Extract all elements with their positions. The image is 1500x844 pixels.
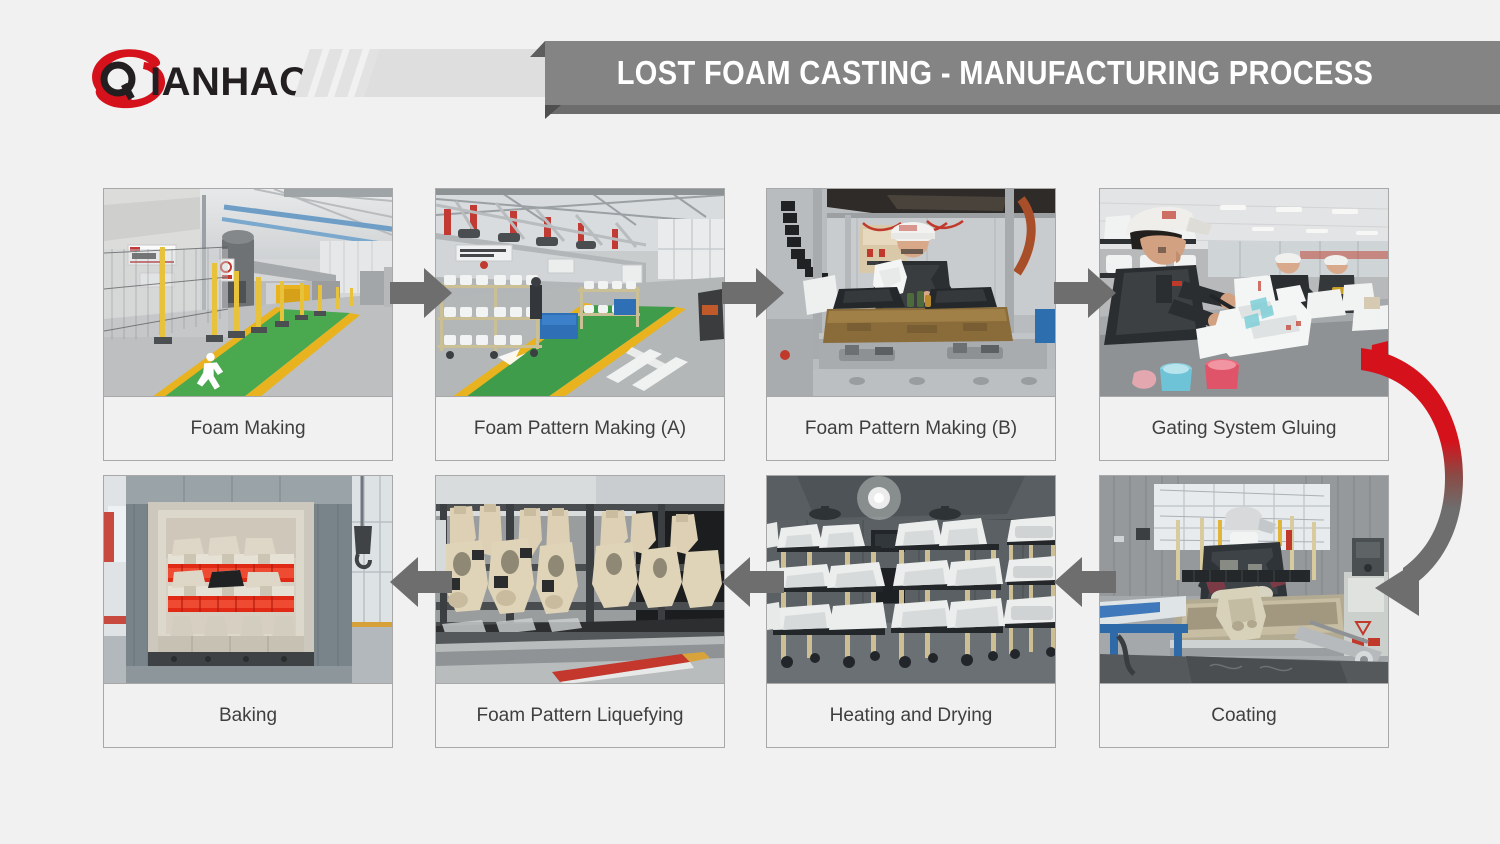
brand-wordmark: IANHAO (150, 60, 311, 105)
process-step-label: Foam Pattern Liquefying (436, 684, 724, 747)
banner-ribbon-shadow (545, 105, 1500, 114)
process-step-label: Heating and Drying (767, 684, 1055, 747)
process-step-card-foam-pattern-making-b[interactable]: Foam Pattern Making (B) (766, 188, 1056, 461)
arrow-step2-to-step3-icon (722, 264, 784, 322)
process-step-label: Foam Making (104, 397, 392, 460)
arrow-step6-to-step7-icon (722, 553, 784, 611)
banner-fold-bottom (545, 105, 561, 119)
arrow-step4-to-step5-curved-icon (1345, 330, 1500, 630)
process-step-label: Coating (1100, 684, 1388, 747)
photo-foam-pattern-making-b (767, 189, 1055, 397)
photo-heating-and-drying (767, 476, 1055, 684)
process-step-card-foam-pattern-making-a[interactable]: Foam Pattern Making (A) (435, 188, 725, 461)
process-step-card-heating-and-drying[interactable]: Heating and Drying (766, 475, 1056, 748)
photo-baking (104, 476, 392, 684)
slide-title: LOST FOAM CASTING - MANUFACTURING PROCES… (599, 41, 1391, 105)
process-step-card-foam-making[interactable]: Foam Making (103, 188, 393, 461)
photo-foam-pattern-liquefying (436, 476, 724, 684)
process-step-card-baking[interactable]: Baking (103, 475, 393, 748)
photo-foam-making (104, 189, 392, 397)
process-step-label: Baking (104, 684, 392, 747)
arrow-step1-to-step2-icon (390, 264, 452, 322)
process-step-label: Foam Pattern Making (B) (767, 397, 1055, 460)
arrow-step3-to-step4-icon (1054, 264, 1116, 322)
brand-logo: IANHAO (88, 46, 298, 114)
arrow-step5-to-step6-icon (1054, 553, 1116, 611)
banner-fold-top (530, 41, 545, 57)
process-step-card-foam-pattern-liquefying[interactable]: Foam Pattern Liquefying (435, 475, 725, 748)
slide-header: IANHAO LOST FOAM CASTING - MANUFACTURING… (0, 0, 1500, 145)
arrow-step7-to-step8-icon (390, 553, 452, 611)
process-step-label: Foam Pattern Making (A) (436, 397, 724, 460)
photo-foam-pattern-making-a (436, 189, 724, 397)
